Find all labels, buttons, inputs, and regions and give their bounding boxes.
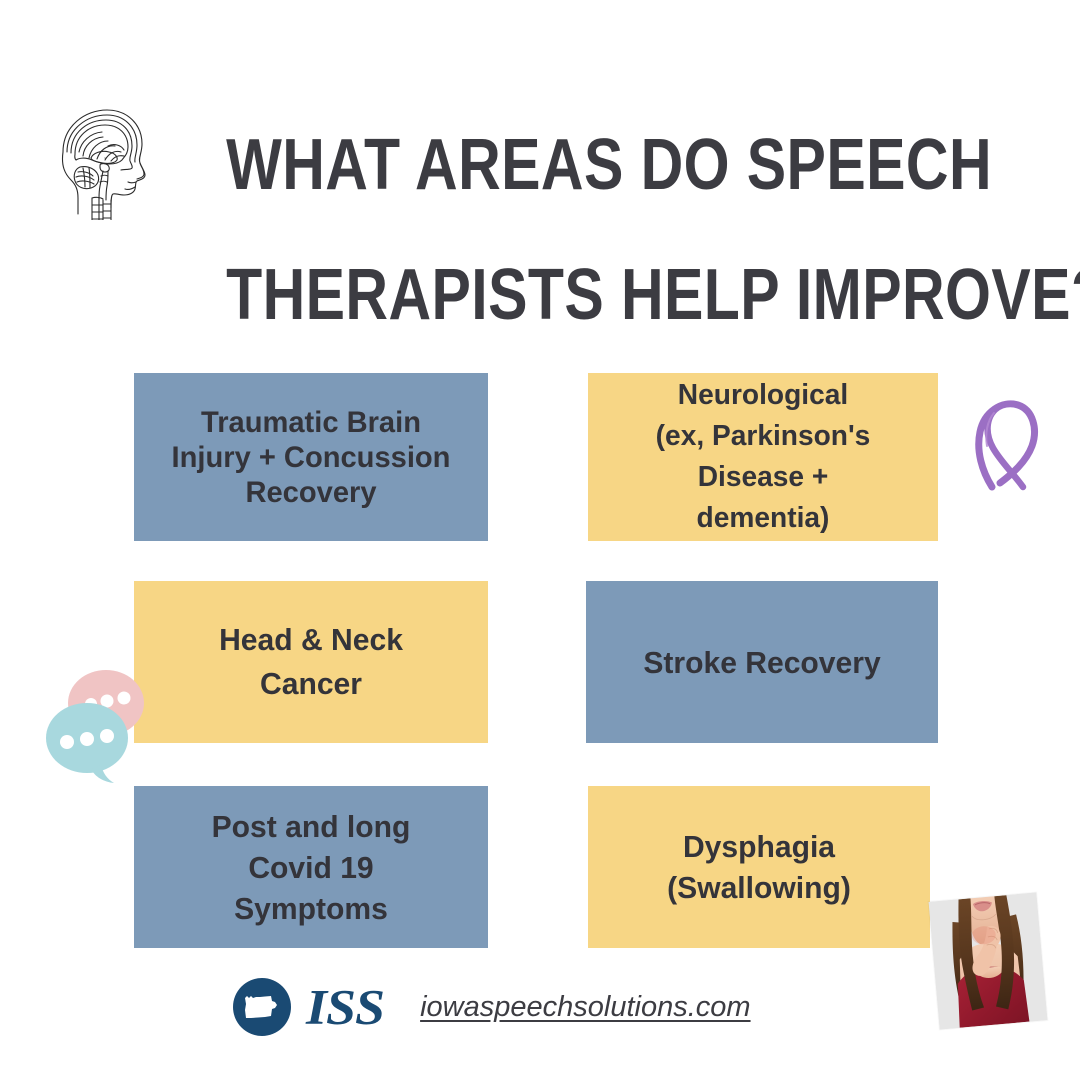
card-dysphagia: Dysphagia(Swallowing) — [588, 786, 930, 948]
purple-awareness-ribbon-icon — [966, 388, 1050, 494]
teal-bubble — [46, 703, 128, 783]
title-line-1: What Areas Do Speech — [226, 100, 874, 230]
card-label: Neurological(ex, Parkinson'sDisease +dem… — [607, 375, 919, 539]
card-neurological: Neurological(ex, Parkinson'sDisease +dem… — [588, 373, 938, 541]
card-label: Post and longCovid 19Symptoms — [153, 806, 469, 929]
page-title: What Areas Do Speech Therapists Help Imp… — [226, 100, 874, 360]
card-post-and-long-covid: Post and longCovid 19Symptoms — [134, 786, 488, 948]
infographic-poster: What Areas Do Speech Therapists Help Imp… — [0, 0, 1080, 1080]
website-link[interactable]: iowaspeechsolutions.com — [420, 991, 750, 1024]
card-label: Traumatic BrainInjury + ConcussionRecove… — [153, 405, 469, 510]
brain-sagittal-head-icon — [45, 100, 165, 220]
footer-branding: ISS iowaspeechsolutions.com — [232, 975, 751, 1039]
card-label: Stroke Recovery — [605, 645, 919, 680]
speech-bubbles-icon — [45, 655, 157, 785]
iss-iowa-logo-icon — [232, 977, 292, 1037]
iss-wordmark: ISS — [306, 982, 384, 1032]
card-traumatic-brain-injury: Traumatic BrainInjury + ConcussionRecove… — [134, 373, 488, 541]
card-label: Dysphagia(Swallowing) — [607, 826, 912, 908]
card-stroke-recovery: Stroke Recovery — [586, 581, 938, 743]
title-line-2: Therapists Help Improve? — [226, 230, 874, 360]
woman-touching-throat-photo — [929, 893, 1048, 1030]
card-head-and-neck-cancer: Head & NeckCancer — [134, 581, 488, 743]
card-label: Head & NeckCancer — [153, 618, 469, 706]
